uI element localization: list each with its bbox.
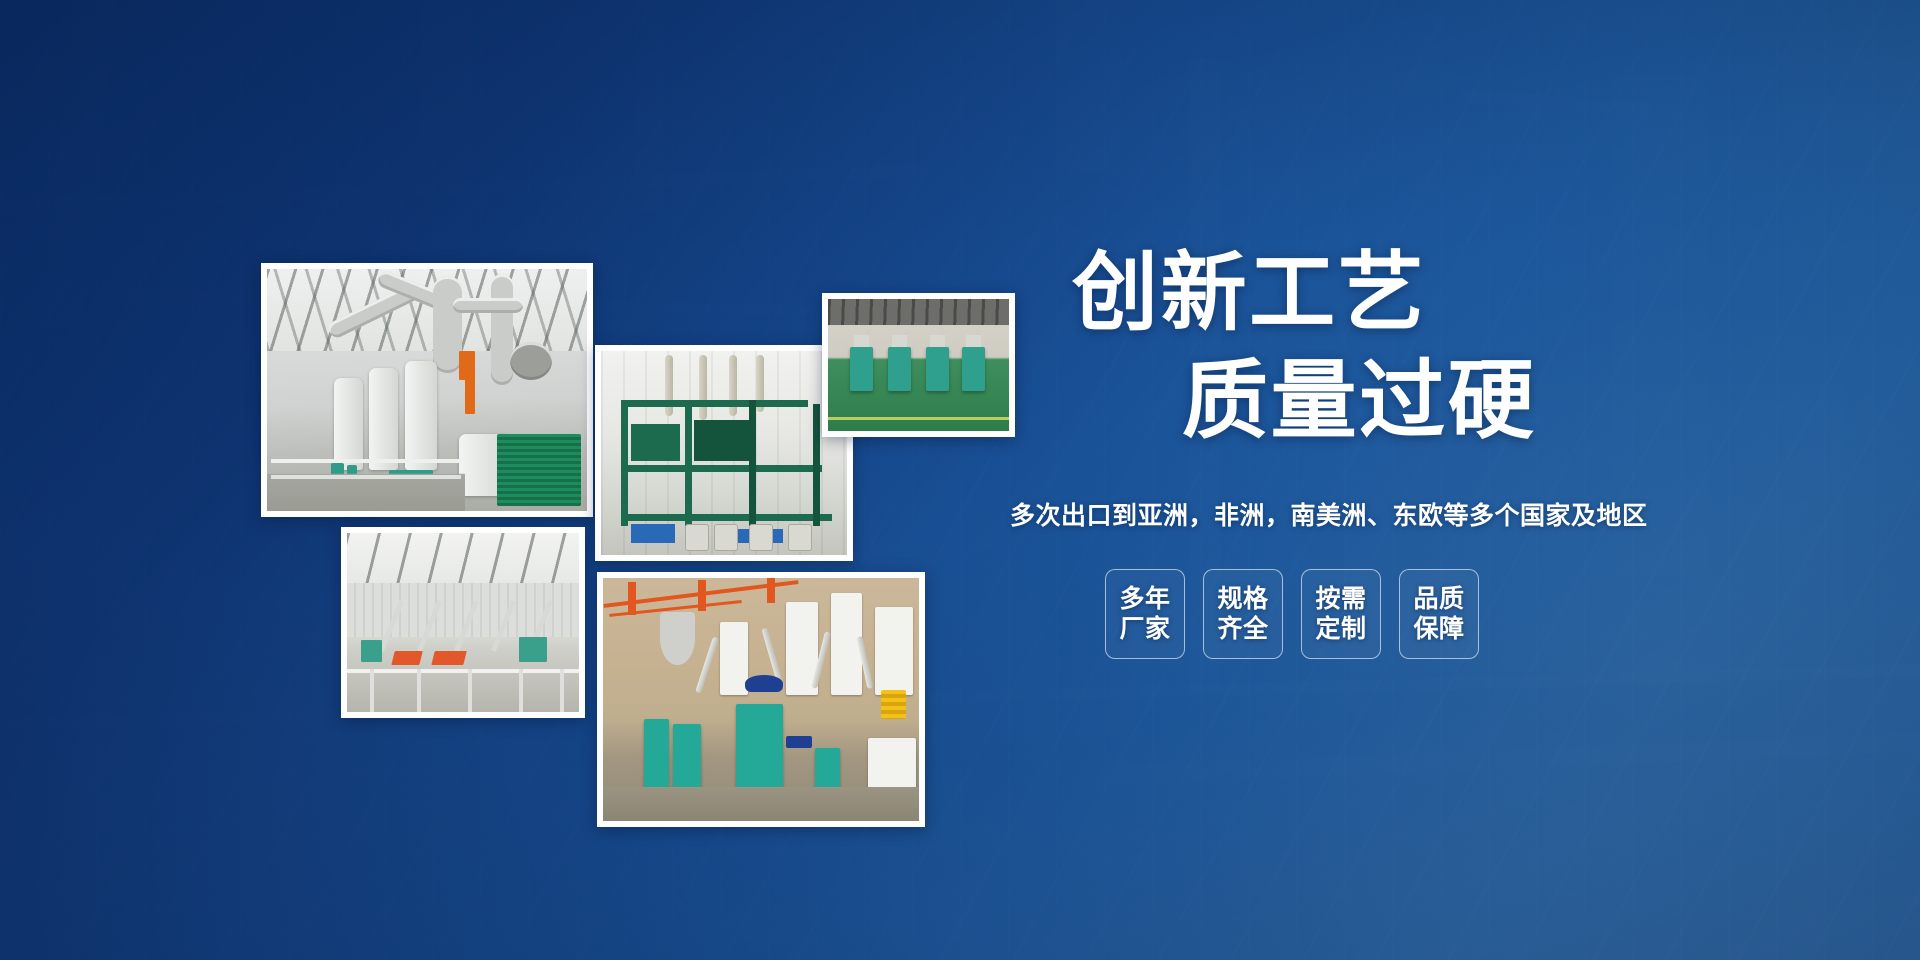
product-photo-collage	[0, 0, 1060, 960]
photo-grey-rice-milling-line[interactable]	[261, 263, 593, 517]
photo-white-elevated-processing-line[interactable]	[341, 527, 585, 718]
photo-teal-mill-orange-beams[interactable]	[597, 572, 925, 827]
feature-badge-custom-made[interactable]: 按需 定制	[1301, 569, 1381, 659]
feature-badge-list: 多年 厂家 规格 齐全 按需 定制 品质 保障	[1105, 569, 1630, 659]
badge-line-1: 规格	[1217, 584, 1268, 615]
feature-badge-years-manufacturer[interactable]: 多年 厂家	[1105, 569, 1185, 659]
headline-line-1: 创新工艺	[1072, 250, 1630, 336]
banner-subtitle: 多次出口到亚洲，非洲，南美洲、东欧等多个国家及地区	[1010, 496, 1630, 532]
banner-copy: 创新工艺 质量过硬 多次出口到亚洲，非洲，南美洲、东欧等多个国家及地区 多年 厂…	[1010, 250, 1630, 659]
badge-line-2: 厂家	[1119, 614, 1170, 645]
photo-teal-mills-green-floor[interactable]	[822, 293, 1015, 437]
badge-line-2: 定制	[1315, 614, 1366, 645]
badge-line-1: 按需	[1315, 584, 1366, 615]
badge-line-1: 品质	[1413, 584, 1464, 615]
badge-line-2: 保障	[1413, 614, 1464, 645]
photo-green-flour-milling-plant[interactable]	[595, 345, 853, 561]
headline-line-2: 质量过硬	[1182, 358, 1630, 444]
feature-badge-full-specifications[interactable]: 规格 齐全	[1203, 569, 1283, 659]
promotional-banner: 创新工艺 质量过硬 多次出口到亚洲，非洲，南美洲、东欧等多个国家及地区 多年 厂…	[0, 0, 1920, 960]
badge-line-1: 多年	[1119, 584, 1170, 615]
feature-badge-quality-guarantee[interactable]: 品质 保障	[1399, 569, 1479, 659]
badge-line-2: 齐全	[1217, 614, 1268, 645]
